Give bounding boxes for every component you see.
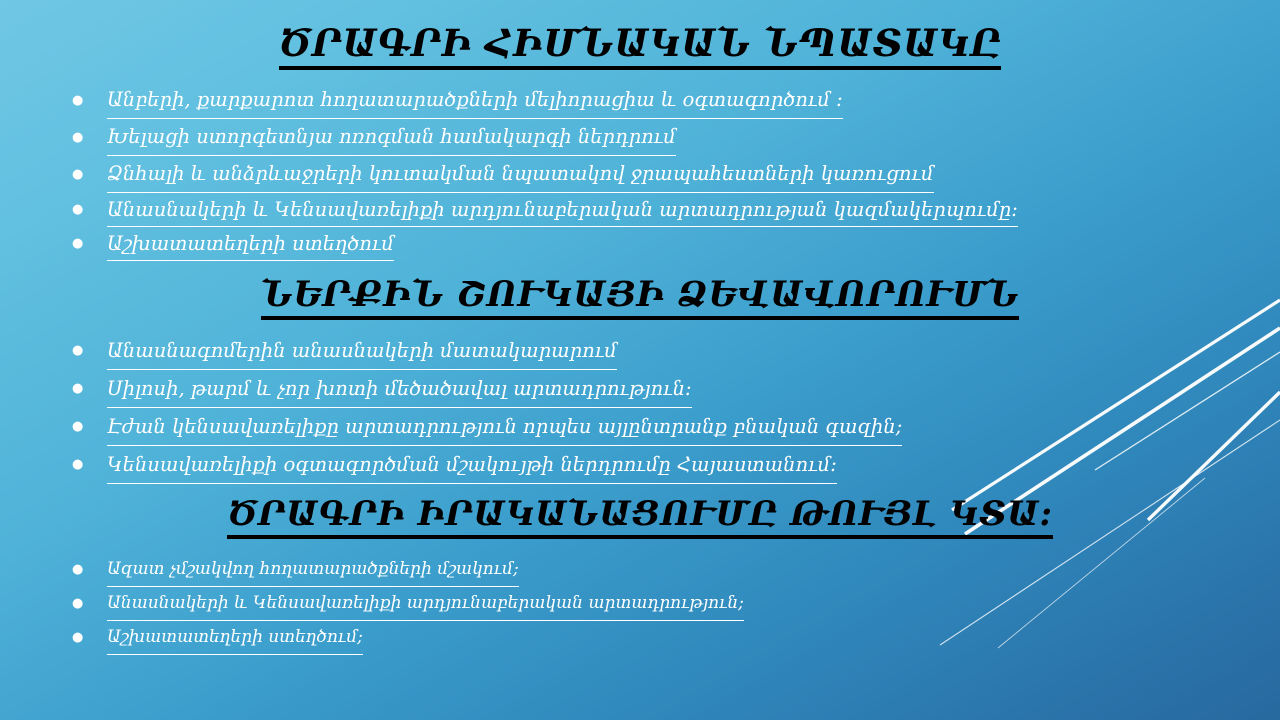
list-item: Անասնագոմերին անասնակերի մատակարարում bbox=[62, 332, 1242, 370]
bullet-list-2: Անասնագոմերին անասնակերի մատակարարում Սի… bbox=[62, 332, 1242, 484]
section-heading-3: ԾՐԱԳՐԻ ԻՐԱԿԱՆԱՑՈՒՄԸ ԹՈՒՅԼ ԿՏԱ: bbox=[0, 494, 1280, 539]
list-item: Անասնակերի և Կենսավառելիքի արդյունաբերակ… bbox=[62, 193, 1242, 227]
list-item: Աշխատատեղերի ստեղծում; bbox=[62, 621, 1242, 655]
section-heading-1-text: ԾՐԱԳՐԻ ՀԻՄՆԱԿԱՆ ՆՊԱՏԱԿԸ bbox=[279, 21, 1002, 70]
slide-content: ԾՐԱԳՐԻ ՀԻՄՆԱԿԱՆ ՆՊԱՏԱԿԸ Անբերի, քարքարոտ… bbox=[0, 0, 1280, 720]
bullet-text: Աշխատատեղերի ստեղծում; bbox=[107, 621, 363, 655]
bullet-text: Ազատ չմշակվող հողատարածքների մշակում; bbox=[107, 553, 519, 587]
bullet-list-3: Ազատ չմշակվող հողատարածքների մշակում; Ան… bbox=[62, 553, 1242, 655]
list-item: Կենսավառելիքի օգտագործման մշակույթի ներդ… bbox=[62, 446, 1242, 484]
section-heading-1: ԾՐԱԳՐԻ ՀԻՄՆԱԿԱՆ ՆՊԱՏԱԿԸ bbox=[0, 21, 1280, 70]
list-item: Աշխատատեղերի ստեղծում bbox=[62, 227, 1242, 261]
section-heading-2-text: ՆԵՐՔԻՆ ՇՈՒԿԱՅԻ ՁԵՎԱՎՈՐՈՒՄՆ bbox=[261, 274, 1019, 320]
bullet-text: Խելացի ստորգետնյա ոռոգման համակարգի ներդ… bbox=[107, 119, 676, 156]
list-item: Ազատ չմշակվող հողատարածքների մշակում; bbox=[62, 553, 1242, 587]
list-item: Խելացի ստորգետնյա ոռոգման համակարգի ներդ… bbox=[62, 119, 1242, 156]
bullet-text: Կենսավառելիքի օգտագործման մշակույթի ներդ… bbox=[107, 446, 837, 484]
list-item: Անբերի, քարքարոտ հողատարածքների մելիորաց… bbox=[62, 82, 1242, 119]
section-heading-2: ՆԵՐՔԻՆ ՇՈՒԿԱՅԻ ՁԵՎԱՎՈՐՈՒՄՆ bbox=[0, 274, 1280, 320]
bullet-text: Ձնհալի և անձրևաջրերի կուտակման նպատակով … bbox=[107, 156, 934, 193]
presentation-slide: ԾՐԱԳՐԻ ՀԻՄՆԱԿԱՆ ՆՊԱՏԱԿԸ Անբերի, քարքարոտ… bbox=[0, 0, 1280, 720]
list-item: Սիլոսի, թարմ և չոր խոտի մեծածավալ արտադր… bbox=[62, 370, 1242, 408]
list-item: Էժան կենսավառելիքը արտադրություն որպես ա… bbox=[62, 408, 1242, 446]
list-item: Ձնհալի և անձրևաջրերի կուտակման նպատակով … bbox=[62, 156, 1242, 193]
list-item: Անասնակերի և Կենսավառելիքի արդյունաբերակ… bbox=[62, 587, 1242, 621]
bullet-text: Անասնակերի և Կենսավառելիքի արդյունաբերակ… bbox=[107, 193, 1018, 227]
bullet-text: Անբերի, քարքարոտ հողատարածքների մելիորաց… bbox=[107, 82, 843, 119]
bullet-text: Անասնակերի և Կենսավառելիքի արդյունաբերակ… bbox=[107, 587, 744, 621]
bullet-list-1: Անբերի, քարքարոտ հողատարածքների մելիորաց… bbox=[62, 82, 1242, 261]
bullet-text: Անասնագոմերին անասնակերի մատակարարում bbox=[107, 332, 617, 370]
bullet-text: Աշխատատեղերի ստեղծում bbox=[107, 227, 394, 261]
section-heading-3-text: ԾՐԱԳՐԻ ԻՐԱԿԱՆԱՑՈՒՄԸ ԹՈՒՅԼ ԿՏԱ: bbox=[227, 494, 1052, 539]
bullet-text: Էժան կենսավառելիքը արտադրություն որպես ա… bbox=[107, 408, 902, 446]
bullet-text: Սիլոսի, թարմ և չոր խոտի մեծածավալ արտադր… bbox=[107, 370, 692, 408]
